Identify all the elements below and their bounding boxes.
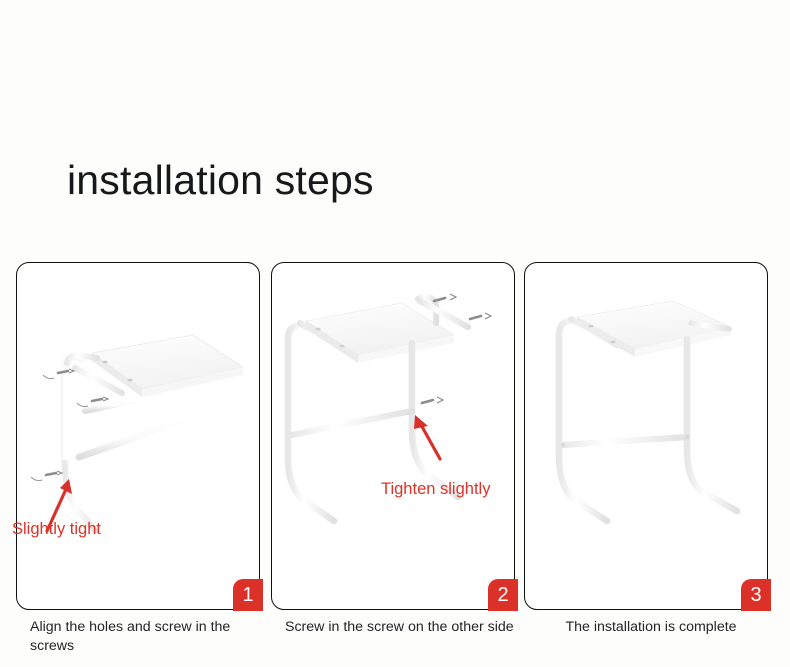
screw-indicator-group-b: [470, 313, 491, 319]
partial-assembly-diagram-2: [272, 263, 514, 609]
step-2-illustration: [272, 263, 514, 609]
step-1-caption: Align the holes and screw in the screws: [30, 618, 262, 655]
tabletop-part: [577, 301, 731, 357]
screw-indicator-group-a: [434, 294, 456, 301]
step-2-caption: Screw in the screw on the other side: [285, 618, 517, 637]
step-2-number-badge: 2: [488, 579, 518, 611]
step-3-number-badge: 3: [741, 579, 771, 611]
installation-steps-row: 1 Slightly tight Align the holes and scr…: [0, 262, 790, 667]
joint-marker-right: [685, 435, 689, 439]
installation-step-1: 1 Slightly tight Align the holes and scr…: [16, 262, 262, 667]
installation-step-3: 3 The installation is complete: [524, 262, 770, 667]
step-1-illustration: [17, 263, 259, 609]
page-title: installation steps: [67, 160, 374, 201]
exploded-table-diagram-1: [17, 263, 259, 609]
installation-step-2: 2 Tighten slightly Screw in the screw on…: [271, 262, 517, 667]
right-leg-frame: [687, 339, 737, 511]
step-1-annotation-label: Slightly tight: [12, 520, 101, 539]
left-leg-frame: [288, 325, 334, 521]
step-3-caption: The installation is complete: [532, 618, 770, 637]
screw-indicator-group-top: [43, 369, 74, 379]
step-3-illustration: [525, 263, 767, 609]
step-1-number-badge: 1: [233, 579, 263, 611]
lower-crossbar: [563, 437, 687, 445]
lower-crossbar: [292, 411, 412, 435]
finished-table-diagram-3: [525, 263, 767, 609]
joint-marker-left: [561, 443, 565, 447]
step-3-card: 3: [524, 262, 768, 610]
step-2-annotation-label: Tighten slightly: [381, 480, 490, 499]
crossbar-part: [79, 416, 197, 457]
screw-indicator-group-bottom: [31, 471, 62, 481]
step-1-card: 1: [16, 262, 260, 610]
step-2-card: 2: [271, 262, 515, 610]
leg-frame-part: [65, 356, 95, 531]
tabletop-part: [306, 303, 454, 363]
screw-indicator-group-c: [422, 397, 443, 403]
left-leg-frame: [559, 321, 607, 521]
